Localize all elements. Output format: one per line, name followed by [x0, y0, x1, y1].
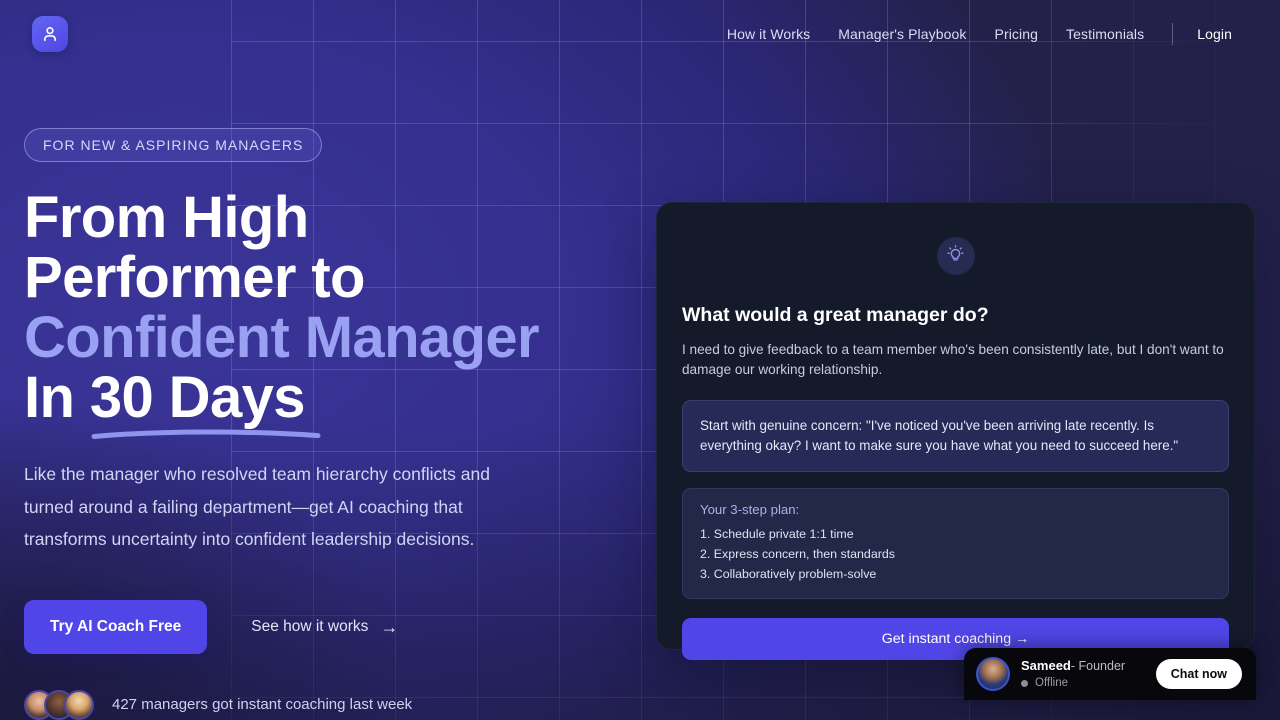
- nav-item-login[interactable]: Login: [1183, 20, 1232, 48]
- headline-line-2: Performer to: [24, 248, 644, 308]
- coach-answer-text: Start with genuine concern: "I've notice…: [700, 416, 1211, 456]
- nav-item-managers-playbook[interactable]: Manager's Playbook: [824, 20, 980, 48]
- chat-widget[interactable]: Sameed- Founder Offline Chat now: [964, 648, 1256, 700]
- chat-agent-name: Sameed- Founder: [1021, 658, 1125, 675]
- three-step-plan-box: Your 3-step plan: 1. Schedule private 1:…: [682, 488, 1229, 599]
- lightbulb-icon: [946, 244, 965, 268]
- nav-item-pricing[interactable]: Pricing: [981, 20, 1053, 48]
- coaching-demo-card: What would a great manager do? I need to…: [656, 202, 1255, 650]
- underline-swoosh-icon: [92, 428, 320, 440]
- hero-subheading: Like the manager who resolved team hiera…: [24, 458, 544, 556]
- chat-avatar: [976, 657, 1010, 691]
- chat-now-button[interactable]: Chat now: [1156, 659, 1242, 689]
- avatar: [64, 690, 94, 720]
- nav-item-testimonials[interactable]: Testimonials: [1052, 20, 1158, 48]
- see-how-it-works-label: See how it works: [251, 618, 368, 636]
- plan-step: 1. Schedule private 1:1 time: [700, 524, 1211, 544]
- plan-title: Your 3-step plan:: [700, 502, 1211, 517]
- hero-cta-row: Try AI Coach Free See how it works →: [24, 600, 644, 654]
- see-how-it-works-link[interactable]: See how it works →: [251, 618, 398, 636]
- hero-page: How it Works Manager's Playbook Pricing …: [0, 0, 1280, 720]
- headline-line-3-accent: Confident Manager: [24, 308, 644, 368]
- social-proof-text: 427 managers got instant coaching last w…: [112, 696, 412, 713]
- chat-info: Sameed- Founder Offline: [1021, 658, 1125, 691]
- chat-agent-name-text: Sameed: [1021, 658, 1071, 673]
- logo-button[interactable]: [32, 16, 68, 52]
- headline-underlined-phrase: 30 Days: [90, 368, 305, 428]
- main-nav: How it Works Manager's Playbook Pricing …: [713, 20, 1232, 48]
- user-icon: [40, 24, 60, 44]
- headline-line-4-prefix: In: [24, 365, 90, 430]
- page-title: From High Performer to Confident Manager…: [24, 188, 644, 428]
- try-ai-coach-button[interactable]: Try AI Coach Free: [24, 600, 207, 654]
- avatar-stack: [24, 690, 94, 720]
- chat-agent-role: - Founder: [1071, 659, 1125, 673]
- eyebrow-badge: FOR NEW & ASPIRING MANAGERS: [24, 128, 322, 162]
- coach-answer-box: Start with genuine concern: "I've notice…: [682, 400, 1229, 472]
- headline-line-4-emphasis: 30 Days: [90, 365, 305, 430]
- arrow-right-icon: →: [380, 618, 398, 636]
- chat-status-label: Offline: [1035, 676, 1068, 690]
- lightbulb-badge: [937, 237, 975, 275]
- social-proof: 427 managers got instant coaching last w…: [24, 690, 644, 720]
- chat-status: Offline: [1021, 676, 1125, 690]
- status-dot-icon: [1021, 680, 1028, 687]
- card-question-text: I need to give feedback to a team member…: [682, 340, 1229, 380]
- headline-line-1: From High: [24, 188, 644, 248]
- site-header: How it Works Manager's Playbook Pricing …: [0, 0, 1280, 68]
- hero-section: FOR NEW & ASPIRING MANAGERS From High Pe…: [24, 128, 644, 720]
- nav-item-how-it-works[interactable]: How it Works: [713, 20, 824, 48]
- nav-divider: [1172, 23, 1173, 45]
- card-title: What would a great manager do?: [682, 304, 1229, 327]
- headline-line-4: In 30 Days: [24, 368, 644, 428]
- plan-step: 3. Collaboratively problem-solve: [700, 564, 1211, 584]
- plan-step: 2. Express concern, then standards: [700, 544, 1211, 564]
